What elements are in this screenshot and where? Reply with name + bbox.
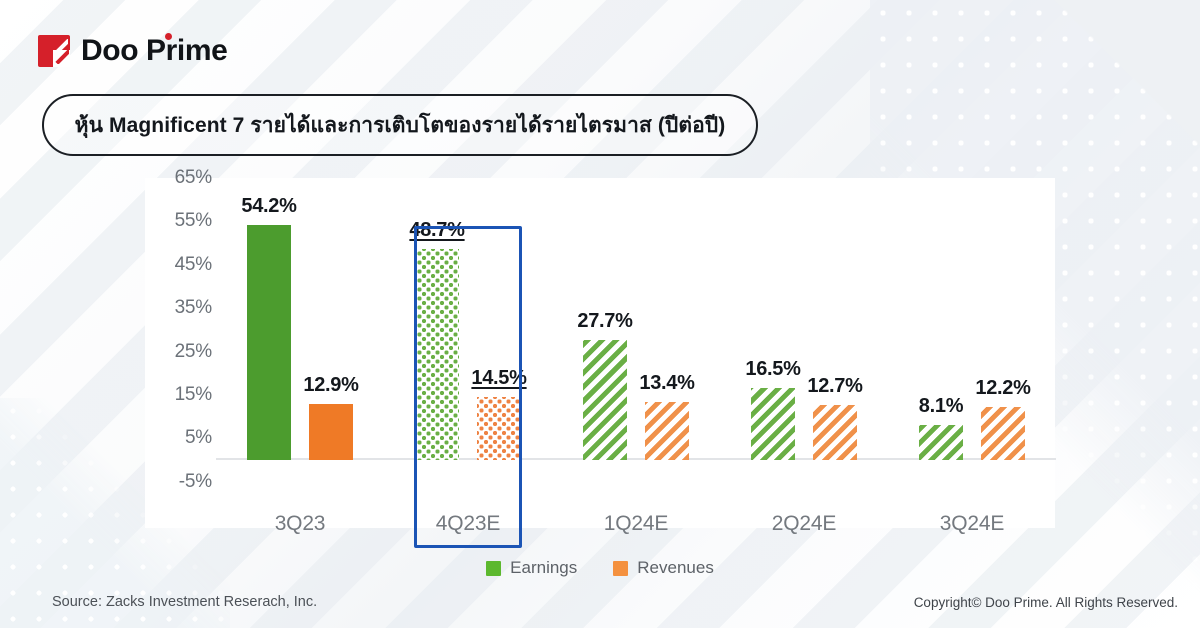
title-banner: หุ้น Magnificent 7 รายได้และการเติบโตของ…: [42, 94, 758, 156]
bar-value-label: 48.7%: [409, 219, 464, 242]
legend-item-earnings[interactable]: Earnings: [486, 558, 577, 578]
x-axis-label-2q24e: 2Q24E: [720, 512, 888, 536]
bar-rect[interactable]: 54.2%: [247, 225, 291, 460]
y-axis-tick: -5%: [150, 471, 212, 493]
bar-chart: 65%55%45%35%25%15%5%-5% 54.2%12.9%48.7%1…: [0, 170, 1200, 590]
x-axis-label-3q23: 3Q23: [216, 512, 384, 536]
bar-rect[interactable]: 12.9%: [309, 404, 353, 460]
logo-accent-dot: [165, 33, 172, 40]
bar-rect[interactable]: 13.4%: [645, 402, 689, 460]
bar-rect[interactable]: 12.7%: [813, 405, 857, 460]
bar-value-label: 13.4%: [639, 372, 694, 395]
bar-earnings-2q24e[interactable]: 16.5%: [751, 178, 795, 460]
background-corner-shape: [1050, 0, 1200, 150]
legend-swatch-icon: [613, 561, 628, 576]
y-axis-tick: 25%: [150, 341, 212, 363]
y-axis-tick: 45%: [150, 254, 212, 276]
bar-rect[interactable]: 8.1%: [919, 425, 963, 460]
bar-value-label: 8.1%: [919, 395, 963, 418]
bar-rect[interactable]: 27.7%: [583, 340, 627, 460]
bar-earnings-4q23e[interactable]: 48.7%: [415, 178, 459, 460]
y-axis-tick: 35%: [150, 297, 212, 319]
plot-area: 54.2%12.9%48.7%14.5%27.7%13.4%16.5%12.7%…: [216, 178, 1056, 504]
bar-rect[interactable]: 48.7%: [415, 249, 459, 460]
y-axis-tick: 65%: [150, 167, 212, 189]
doo-prime-flag-icon: [38, 35, 70, 67]
bar-rect[interactable]: 14.5%: [477, 397, 521, 460]
x-axis-labels: 3Q234Q23E1Q24E2Q24E3Q24E: [216, 512, 1056, 536]
bar-revenues-3q24e[interactable]: 12.2%: [981, 178, 1025, 460]
bar-value-label: 12.2%: [975, 377, 1030, 400]
bar-value-label: 12.7%: [807, 375, 862, 398]
y-axis: 65%55%45%35%25%15%5%-5%: [150, 178, 212, 518]
legend-label: Earnings: [510, 558, 577, 578]
bar-rect[interactable]: 16.5%: [751, 388, 795, 460]
source-note: Source: Zacks Investment Reserach, Inc.: [52, 594, 317, 610]
bar-revenues-2q24e[interactable]: 12.7%: [813, 178, 857, 460]
x-axis-label-1q24e: 1Q24E: [552, 512, 720, 536]
bar-earnings-3q24e[interactable]: 8.1%: [919, 178, 963, 460]
bar-group: 16.5%12.7%: [720, 178, 888, 460]
brand-logo: Doo Prime: [38, 34, 227, 68]
legend-item-revenues[interactable]: Revenues: [613, 558, 714, 578]
legend-swatch-icon: [486, 561, 501, 576]
bar-group: 8.1%12.2%: [888, 178, 1056, 460]
brand-name: Doo Prime: [81, 34, 227, 68]
bar-value-label: 12.9%: [303, 374, 358, 397]
y-axis-tick: 5%: [150, 427, 212, 449]
bar-revenues-3q23[interactable]: 12.9%: [309, 178, 353, 460]
copyright-note: Copyright© Doo Prime. All Rights Reserve…: [914, 595, 1178, 610]
bar-groups: 54.2%12.9%48.7%14.5%27.7%13.4%16.5%12.7%…: [216, 178, 1056, 460]
bar-value-label: 14.5%: [471, 367, 526, 390]
bar-group: 48.7%14.5%: [384, 178, 552, 460]
bar-revenues-4q23e[interactable]: 14.5%: [477, 178, 521, 460]
bar-value-label: 54.2%: [241, 195, 296, 218]
y-axis-tick: 15%: [150, 384, 212, 406]
bar-rect[interactable]: 12.2%: [981, 407, 1025, 460]
x-axis-label-4q23e: 4Q23E: [384, 512, 552, 536]
page-title: หุ้น Magnificent 7 รายได้และการเติบโตของ…: [75, 109, 726, 142]
legend-label: Revenues: [637, 558, 714, 578]
bar-earnings-1q24e[interactable]: 27.7%: [583, 178, 627, 460]
bar-value-label: 27.7%: [577, 310, 632, 333]
bar-group: 27.7%13.4%: [552, 178, 720, 460]
x-axis-label-3q24e: 3Q24E: [888, 512, 1056, 536]
chart-legend: EarningsRevenues: [0, 558, 1200, 578]
bar-group: 54.2%12.9%: [216, 178, 384, 460]
bar-value-label: 16.5%: [745, 358, 800, 381]
bar-revenues-1q24e[interactable]: 13.4%: [645, 178, 689, 460]
bar-earnings-3q23[interactable]: 54.2%: [247, 178, 291, 460]
y-axis-tick: 55%: [150, 210, 212, 232]
